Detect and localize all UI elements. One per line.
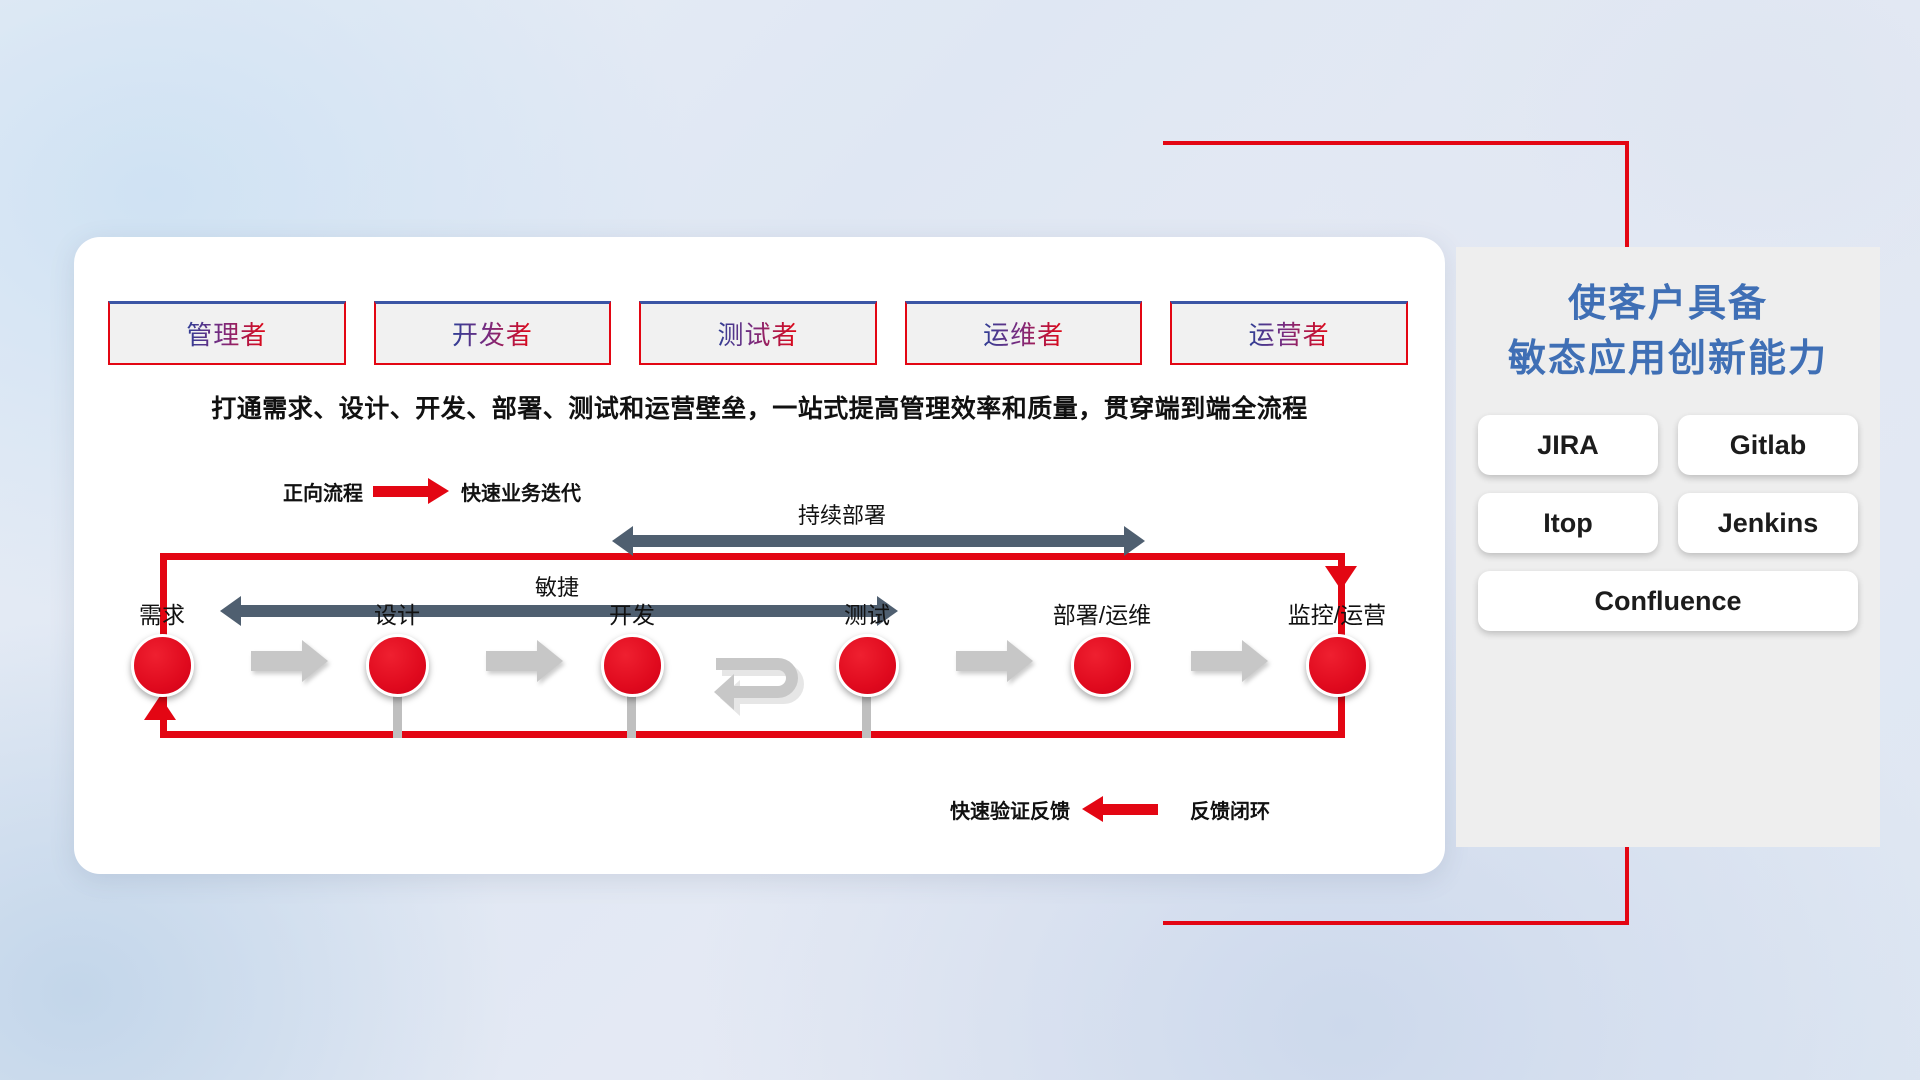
role-label: 开发者 [452,315,533,352]
role-label: 管理者 [186,315,267,352]
role-box-manager[interactable]: 管理者 [108,301,346,365]
roles-row: 管理者 开发者 测试者 运维者 运营者 [108,301,1408,365]
stage-label: 设计 [317,596,477,630]
tool-chip-grid: JIRA Gitlab Itop Jenkins Confluence [1478,415,1858,631]
pipeline-arrow-3-icon [956,651,1008,671]
stage-dot [1306,634,1369,697]
stage-design[interactable]: 设计 [317,596,477,697]
stage-dot [836,634,899,697]
feedback-loop-legend: 快速验证反馈 反馈闭环 [950,795,1270,824]
tool-chip-label: Confluence [1594,586,1741,617]
stage-dot [131,634,194,697]
tool-chip-itop[interactable]: Itop [1478,493,1658,553]
stage-label: 部署/运维 [1022,596,1182,630]
stage-label: 需求 [82,596,242,630]
continuous-deployment-arrow [632,535,1125,547]
tool-chip-jenkins[interactable]: Jenkins [1678,493,1858,553]
pipeline-arrow-2-icon [486,651,538,671]
stage-label: 开发 [552,596,712,630]
stage-dot [366,634,429,697]
panel-title-line2: 敏态应用创新能力 [1478,332,1858,387]
role-label: 测试者 [717,315,798,352]
forward-flow-label-right: 快速业务迭代 [461,477,581,506]
pipeline-arrow-4-icon [1191,651,1243,671]
devops-pipeline: 需求 设计 开发 测试 部署/运维 监控/运营 [0,596,1371,716]
description-text: 打通需求、设计、开发、部署、测试和运营壁垒，一站式提高管理效率和质量，贯穿端到端… [74,389,1445,425]
forward-flow-label-left: 正向流程 [283,477,363,506]
role-label: 运营者 [1249,315,1330,352]
forward-flow-legend: 正向流程 快速业务迭代 [283,477,581,506]
stage-dot [1071,634,1134,697]
tool-chip-gitlab[interactable]: Gitlab [1678,415,1858,475]
tool-chip-label: Gitlab [1730,430,1807,461]
tool-chip-jira[interactable]: JIRA [1478,415,1658,475]
stage-development[interactable]: 开发 [552,596,712,697]
arrow-right-icon [373,486,429,497]
role-box-ops[interactable]: 运维者 [905,301,1143,365]
feedback-label-left: 快速验证反馈 [950,795,1070,824]
tool-chip-label: Jenkins [1718,508,1819,539]
continuous-deployment-label: 持续部署 [798,498,886,530]
stage-monitor-operations[interactable]: 监控/运营 [1257,596,1417,697]
stage-dot [601,634,664,697]
panel-title-line1: 使客户具备 [1478,277,1858,332]
loop-arrowhead-down-icon [1325,566,1357,590]
tool-chip-label: Itop [1543,508,1592,539]
role-box-developer[interactable]: 开发者 [374,301,612,365]
feedback-label-right: 反馈闭环 [1190,795,1270,824]
continuous-integration-loop-icon [712,654,822,726]
role-box-operations[interactable]: 运营者 [1170,301,1408,365]
stage-requirements[interactable]: 需求 [82,596,242,697]
role-label: 运维者 [983,315,1064,352]
arrow-left-icon [1102,804,1158,815]
stage-deploy-ops[interactable]: 部署/运维 [1022,596,1182,697]
capabilities-panel: 使客户具备 敏态应用创新能力 JIRA Gitlab Itop Jenkins … [1456,247,1880,847]
tool-chip-label: JIRA [1537,430,1599,461]
tool-chip-confluence[interactable]: Confluence [1478,571,1858,631]
role-box-tester[interactable]: 测试者 [639,301,877,365]
pipeline-arrow-1-icon [251,651,303,671]
stage-label: 测试 [787,596,947,630]
stage-label: 监控/运营 [1257,596,1417,630]
